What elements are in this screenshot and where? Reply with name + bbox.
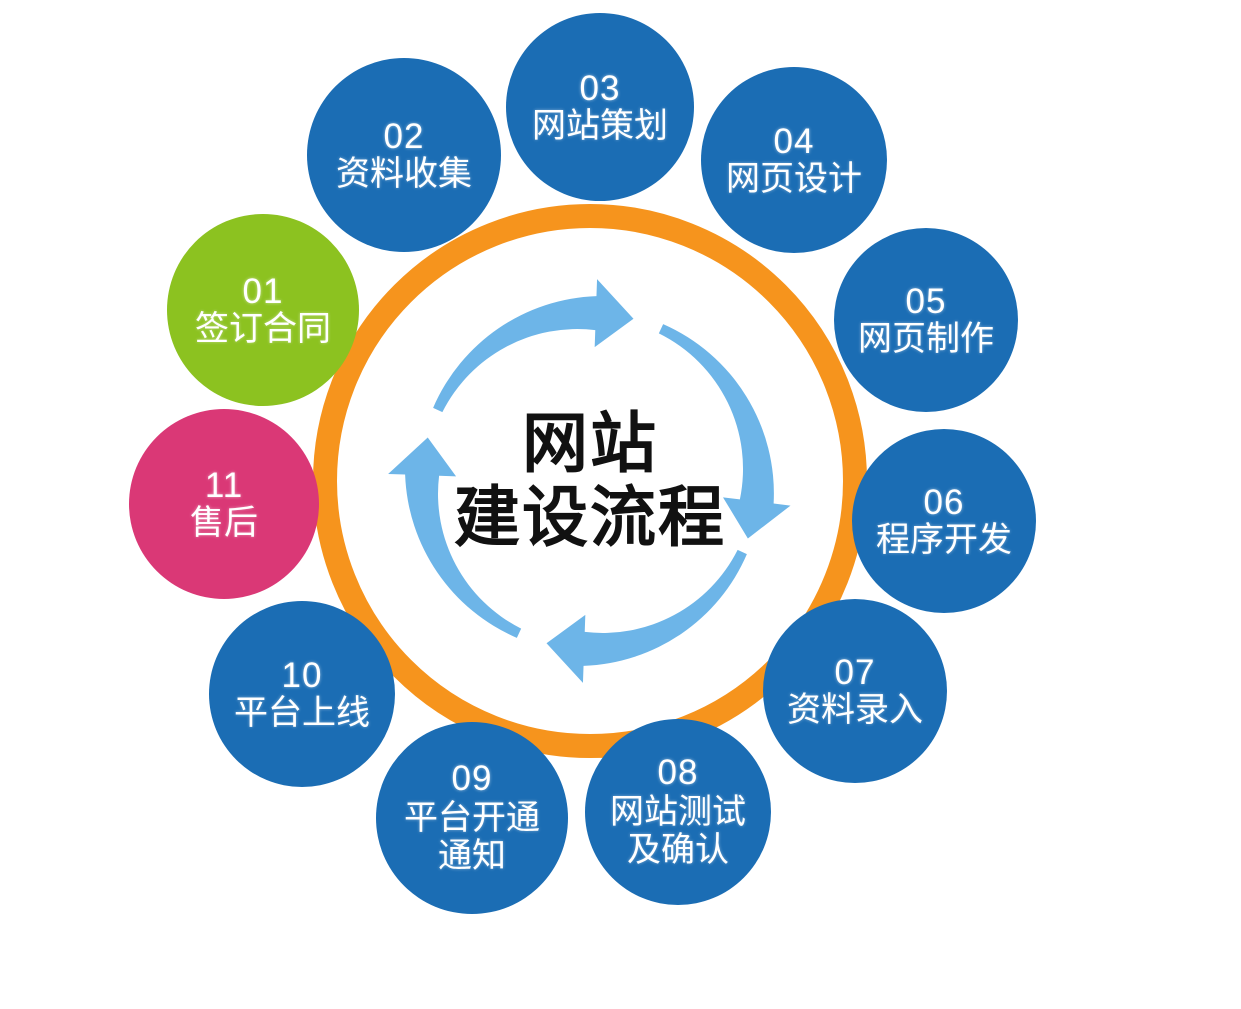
step-06-label: 程序开发 [876, 523, 1012, 558]
step-09-label: 平台开通 [404, 799, 540, 837]
step-08-label-2: 及确认 [627, 831, 729, 869]
step-10-number: 10 [282, 658, 323, 694]
step-01-number: 01 [243, 274, 284, 310]
step-04-number: 04 [774, 124, 815, 160]
step-09[interactable]: 09平台开通通知 [376, 722, 568, 914]
step-04-label: 网页设计 [726, 162, 862, 197]
step-10[interactable]: 10平台上线 [209, 601, 395, 787]
step-01-label: 签订合同 [195, 312, 331, 347]
step-11-label: 售后 [190, 506, 258, 541]
step-10-label: 平台上线 [234, 696, 370, 731]
step-08-label: 网站测试 [610, 793, 746, 831]
step-08[interactable]: 08网站测试及确认 [585, 719, 771, 905]
step-11-number: 11 [205, 468, 243, 504]
step-09-number: 09 [452, 761, 493, 797]
step-05-label: 网页制作 [858, 322, 994, 357]
diagram-canvas: 网站 建设流程 01签订合同02资料收集03网站策划04网页设计05网页制作06… [0, 0, 1241, 1009]
step-03-number: 03 [580, 71, 621, 107]
step-07[interactable]: 07资料录入 [763, 599, 947, 783]
step-03-label: 网站策划 [532, 109, 668, 144]
step-05-number: 05 [906, 284, 947, 320]
step-04[interactable]: 04网页设计 [701, 67, 887, 253]
center-hub-disc [342, 233, 838, 729]
step-07-label: 资料录入 [787, 693, 923, 728]
step-08-number: 08 [658, 755, 699, 791]
step-06[interactable]: 06程序开发 [852, 429, 1036, 613]
step-02-number: 02 [384, 119, 425, 155]
step-01[interactable]: 01签订合同 [167, 214, 359, 406]
step-09-label-2: 通知 [438, 837, 506, 875]
step-02-label: 资料收集 [336, 157, 472, 192]
step-07-number: 07 [835, 655, 876, 691]
step-03[interactable]: 03网站策划 [506, 13, 694, 201]
step-11[interactable]: 11售后 [129, 409, 319, 599]
step-02[interactable]: 02资料收集 [307, 58, 501, 252]
step-05[interactable]: 05网页制作 [834, 228, 1018, 412]
step-06-number: 06 [924, 485, 965, 521]
